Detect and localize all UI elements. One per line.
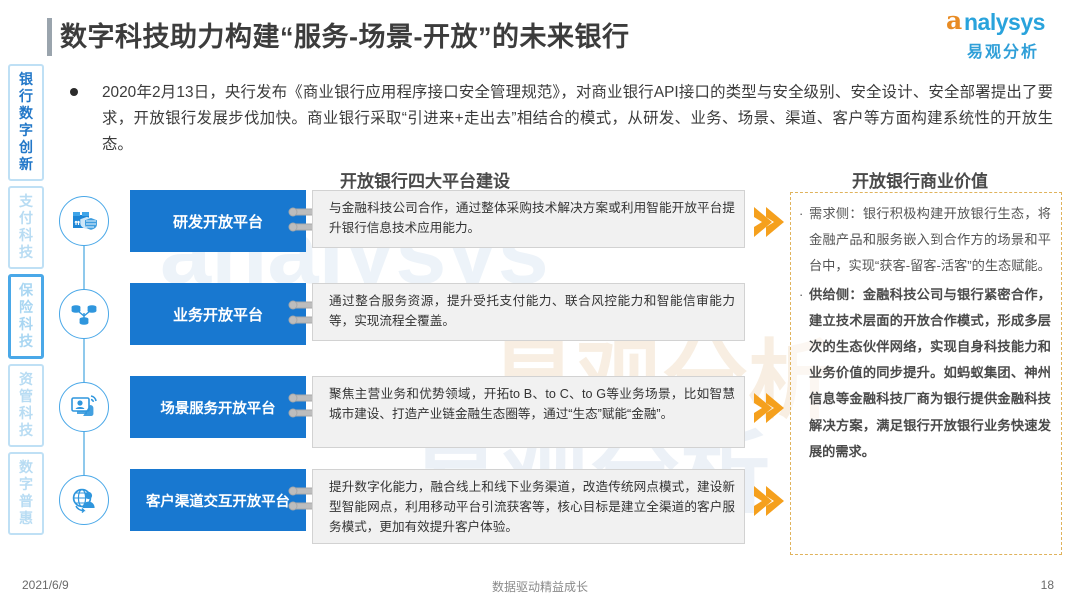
value-list-item: · 需求侧：银行积极构建开放银行生态，将金融产品和服务嵌入到合作方的场景和平台中… xyxy=(799,201,1051,280)
sidebar-item-label: 银行数字创新 xyxy=(10,71,42,173)
sidebar-item-bank-digital-innovation[interactable]: 银行数字创新 xyxy=(8,64,44,181)
value-bullet-icon: · xyxy=(799,282,809,465)
platform-row: 研发开放平台 与金融科技公司合作，通过整体采购技术解决方案或利用智能开放平台提升… xyxy=(0,190,790,283)
platform-label-rd[interactable]: 研发开放平台 xyxy=(130,190,306,252)
video-customer-icon xyxy=(59,382,109,432)
platform-label-business[interactable]: 业务开放平台 xyxy=(130,283,306,345)
business-value-panel: · 需求侧：银行积极构建开放银行生态，将金融产品和服务嵌入到合作方的场景和平台中… xyxy=(790,192,1062,555)
row-icon-wrap xyxy=(59,289,109,339)
row-icon-wrap xyxy=(59,382,109,432)
row-icon-wrap xyxy=(59,196,109,246)
platform-desc-business: 通过整合服务资源，提升受托支付能力、联合风控能力和智能信审能力等，实现流程全覆盖… xyxy=(312,283,745,341)
logo-chinese-text: 易观分析 xyxy=(944,38,1062,62)
platform-label-text: 研发开放平台 xyxy=(173,211,263,232)
globe-user-icon xyxy=(59,475,109,525)
intro-paragraph-block: 2020年2月13日，央行发布《商业银行应用程序接口安全管理规范》，对商业银行A… xyxy=(68,80,1053,158)
package-shield-icon xyxy=(59,196,109,246)
sidebar-label-char: 字 xyxy=(10,122,42,139)
platform-label-text: 客户渠道交互开放平台 xyxy=(146,490,290,511)
value-list-item: · 供给侧：金融科技公司与银行紧密合作，建立技术层面的开放合作模式，形成多层次的… xyxy=(799,282,1051,465)
title-accent-bar xyxy=(47,18,52,56)
platform-row: 场景服务开放平台 聚焦主营业务和优势领域，开拓to B、to C、to G等业务… xyxy=(0,376,790,469)
right-column-heading: 开放银行商业价值 xyxy=(852,167,988,192)
logo-word-text: nalysys xyxy=(964,9,1045,35)
platform-label-scenario[interactable]: 场景服务开放平台 xyxy=(130,376,306,438)
logo-wordmark: a nalysys xyxy=(944,8,1062,36)
platform-label-text: 业务开放平台 xyxy=(173,304,263,325)
footer-slogan: 数据驱动精益成长 xyxy=(0,578,1080,595)
platform-desc-scenario: 聚焦主营业务和优势领域，开拓to B、to C、to G等业务场景，比如智慧城市… xyxy=(312,376,745,448)
sidebar-label-char: 数 xyxy=(10,105,42,122)
platform-row: 客户渠道交互开放平台 提升数字化能力，融合线上和线下业务渠道，改造传统网点模式，… xyxy=(0,469,790,562)
sidebar-label-char: 新 xyxy=(10,156,42,173)
logo-a-icon: a xyxy=(946,8,962,34)
platform-desc-rd: 与金融科技公司合作，通过整体采购技术解决方案或利用智能开放平台提升银行信息技术应… xyxy=(312,190,745,248)
bullet-dot-icon xyxy=(70,88,78,96)
page-title: 数字科技助力构建“服务-场景-开放”的未来银行 xyxy=(60,15,629,54)
intro-paragraph-text: 2020年2月13日，央行发布《商业银行应用程序接口安全管理规范》，对商业银行A… xyxy=(102,80,1053,158)
value-item-text: 需求侧：银行积极构建开放银行生态，将金融产品和服务嵌入到合作方的场景和平台中，实… xyxy=(809,201,1051,280)
value-bullet-icon: · xyxy=(799,201,809,280)
chevron-right-icon xyxy=(752,204,786,240)
left-column-heading: 开放银行四大平台建设 xyxy=(340,167,510,192)
footer-page-number: 18 xyxy=(1041,578,1054,592)
platform-row: 业务开放平台 通过整合服务资源，提升受托支付能力、联合风控能力和智能信审能力等，… xyxy=(0,283,790,376)
sidebar-label-char: 银 xyxy=(10,71,42,88)
row-icon-wrap xyxy=(59,475,109,525)
platform-desc-channel: 提升数字化能力，融合线上和线下业务渠道，改造传统网点模式，建设新型智能网点，利用… xyxy=(312,469,745,544)
platform-label-channel[interactable]: 客户渠道交互开放平台 xyxy=(130,469,306,531)
database-network-icon xyxy=(59,289,109,339)
chevron-right-icon xyxy=(752,483,786,519)
page-header: 数字科技助力构建“服务-场景-开放”的未来银行 a nalysys 易观分析 xyxy=(0,0,1080,64)
analysys-logo: a nalysys 易观分析 xyxy=(944,8,1062,62)
sidebar-label-char: 行 xyxy=(10,88,42,105)
page-footer: 2021/6/9 数据驱动精益成长 18 xyxy=(0,578,1080,594)
chevron-right-icon xyxy=(752,390,786,426)
platform-label-text: 场景服务开放平台 xyxy=(160,397,275,418)
platform-rows: 研发开放平台 与金融科技公司合作，通过整体采购技术解决方案或利用智能开放平台提升… xyxy=(0,190,790,562)
value-item-text: 供给侧：金融科技公司与银行紧密合作，建立技术层面的开放合作模式，形成多层次的生态… xyxy=(809,282,1051,465)
sidebar-label-char: 创 xyxy=(10,139,42,156)
